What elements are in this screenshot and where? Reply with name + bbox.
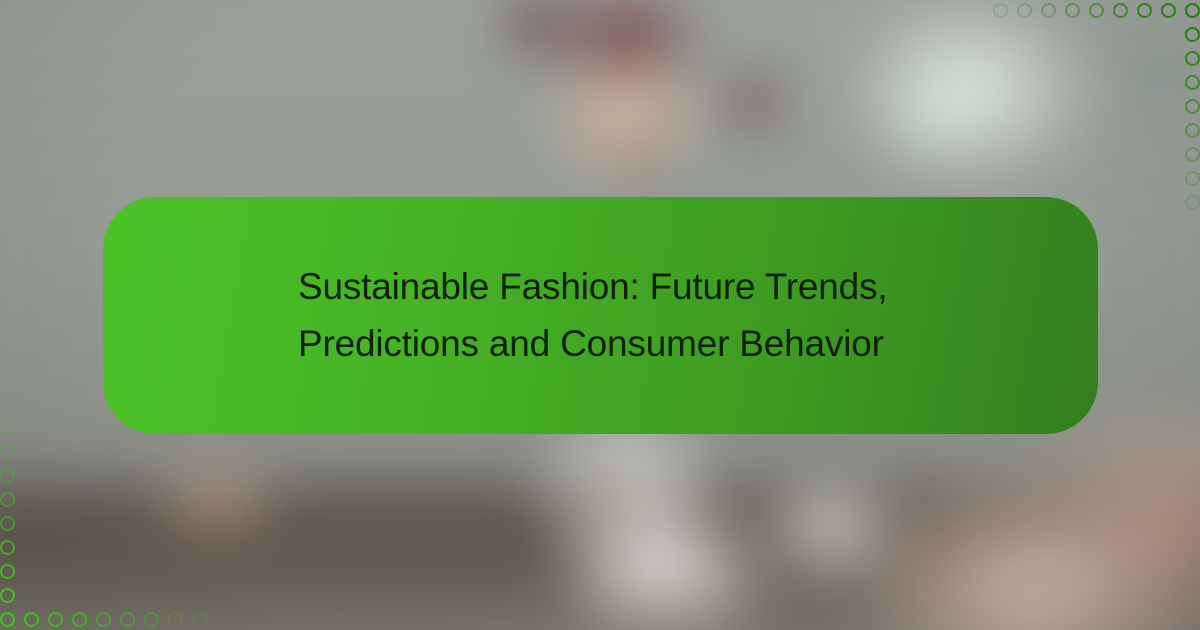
page-title: Sustainable Fashion: Future Trends, Pred… — [298, 259, 938, 371]
title-card: Sustainable Fashion: Future Trends, Pred… — [103, 197, 1098, 434]
social-share-card: Sustainable Fashion: Future Trends, Pred… — [0, 0, 1200, 630]
